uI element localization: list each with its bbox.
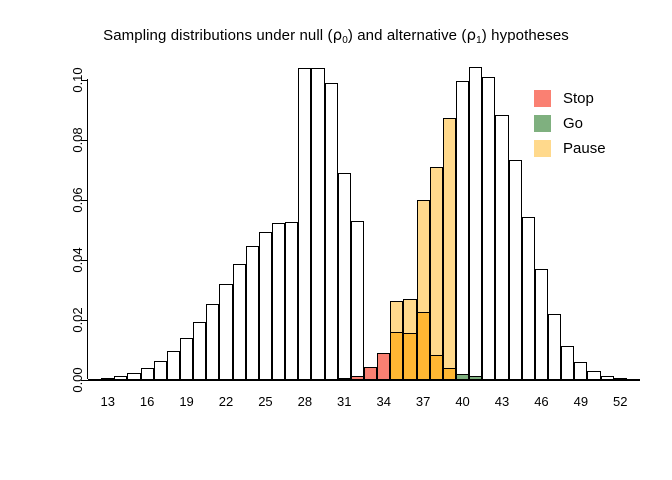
x-axis-label: 28 — [298, 394, 312, 409]
histogram-bar — [246, 246, 259, 380]
histogram-bar-region — [390, 332, 403, 380]
title-rho0: ρ — [333, 26, 343, 44]
y-axis-label-text: 0.00 — [70, 367, 85, 392]
legend-swatch-icon — [534, 140, 551, 157]
histogram-bar — [587, 371, 600, 380]
histogram-bar-region — [417, 312, 430, 380]
histogram-bar — [298, 68, 311, 380]
x-axis-label: 49 — [574, 394, 588, 409]
histogram-bar — [180, 338, 193, 380]
histogram-bar — [311, 68, 324, 380]
x-axis-label: 34 — [376, 394, 390, 409]
y-axis-label-text: 0.08 — [70, 127, 85, 152]
histogram-bar — [456, 81, 469, 380]
x-axis: 1316192225283134374043464952 — [88, 380, 640, 410]
x-axis-label: 16 — [140, 394, 154, 409]
histogram-bar-region — [443, 368, 456, 380]
x-axis-label: 22 — [219, 394, 233, 409]
histogram-bar — [482, 77, 495, 380]
histogram-bar — [154, 361, 167, 380]
histogram-bar — [141, 368, 154, 380]
histogram-bar — [377, 353, 390, 380]
title-mid: ) and alternative ( — [348, 27, 467, 44]
histogram-bar — [561, 346, 574, 381]
legend-item-go: Go — [534, 111, 654, 136]
histogram-bar — [193, 322, 206, 380]
x-axis-label: 19 — [179, 394, 193, 409]
legend-swatch-icon — [534, 115, 551, 132]
title-pre: Sampling distributions under null ( — [103, 27, 332, 44]
histogram-bar — [509, 160, 522, 380]
chart-legend: StopGoPause — [534, 86, 654, 161]
histogram-bar — [259, 232, 272, 380]
histogram-bar — [443, 118, 456, 381]
histogram-bar — [167, 351, 180, 380]
y-axis-label-text: 0.06 — [70, 187, 85, 212]
x-axis-line — [88, 380, 640, 381]
x-axis-label: 43 — [495, 394, 509, 409]
title-sub0: 0 — [342, 35, 348, 46]
histogram-bar — [469, 67, 482, 381]
histogram-bar — [272, 223, 285, 380]
histogram-bar — [285, 222, 298, 380]
x-axis-label: 25 — [258, 394, 272, 409]
histogram-bar — [548, 314, 561, 380]
histogram-bar — [338, 173, 351, 380]
title-rho1: ρ — [467, 26, 477, 44]
x-axis-label: 40 — [455, 394, 469, 409]
legend-item-pause: Pause — [534, 136, 654, 161]
y-axis-label-text: 0.02 — [70, 307, 85, 332]
histogram-bar — [219, 284, 232, 380]
histogram-bar — [206, 304, 219, 380]
y-axis-label-text: 0.04 — [70, 247, 85, 272]
title-post: ) hypotheses — [482, 27, 569, 44]
histogram-bar — [325, 83, 338, 380]
chart-figure: Sampling distributions under null (ρ0) a… — [0, 0, 672, 480]
legend-label: Go — [563, 115, 583, 132]
x-axis-label: 31 — [337, 394, 351, 409]
x-axis-label: 37 — [416, 394, 430, 409]
legend-swatch-icon — [534, 90, 551, 107]
histogram-bar — [574, 362, 587, 380]
histogram-bar — [127, 373, 140, 380]
chart-title: Sampling distributions under null (ρ0) a… — [0, 26, 672, 44]
x-axis-label: 46 — [534, 394, 548, 409]
y-axis-label-text: 0.10 — [70, 67, 85, 92]
histogram-bar — [535, 269, 548, 380]
histogram-bar — [233, 264, 246, 380]
legend-item-stop: Stop — [534, 86, 654, 111]
y-axis: 0.000.020.040.060.080.10 — [80, 70, 88, 380]
histogram-bar — [495, 115, 508, 381]
title-sub1: 1 — [476, 35, 482, 46]
x-axis-label: 52 — [613, 394, 627, 409]
histogram-bar — [351, 221, 364, 380]
histogram-bar-region — [403, 333, 416, 380]
histogram-bar — [430, 167, 443, 380]
legend-label: Pause — [563, 140, 606, 157]
legend-label: Stop — [563, 90, 594, 107]
x-axis-label: 13 — [100, 394, 114, 409]
histogram-bar — [364, 367, 377, 380]
histogram-bar — [522, 217, 535, 380]
histogram-bar-region — [430, 355, 443, 380]
